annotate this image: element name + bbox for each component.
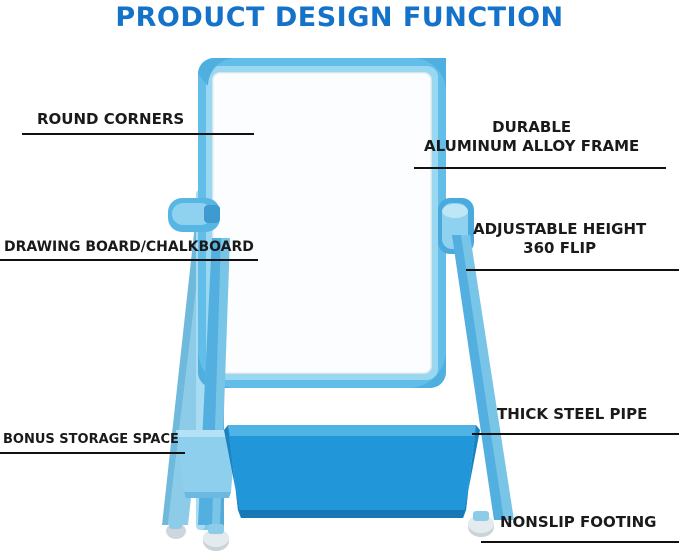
callout-adjustable-height-360-flip: ADJUSTABLE HEIGHT 360 FLIP xyxy=(473,220,646,258)
board-frame-group xyxy=(198,58,446,388)
product-diagram: PRODUCT DESIGN FUNCTION xyxy=(0,0,679,558)
callout-durable-aluminum-alloy-frame: DURABLE ALUMINUM ALLOY FRAME xyxy=(424,118,639,156)
leader-line-drawing-board xyxy=(0,259,258,261)
storage-tray xyxy=(224,425,480,518)
leader-line-bonus-storage xyxy=(0,452,185,454)
leader-line-durable-frame xyxy=(414,167,666,169)
pivot-knob-left xyxy=(168,198,220,232)
leader-line-nonslip-footing xyxy=(481,541,679,543)
callout-round-corners: ROUND CORNERS xyxy=(37,110,184,129)
callout-bonus-storage-space: BONUS STORAGE SPACE xyxy=(3,432,179,448)
callout-thick-steel-pipe: THICK STEEL PIPE xyxy=(497,405,647,424)
callout-durable-line-2: ALUMINUM ALLOY FRAME xyxy=(424,137,639,156)
callout-adjustable-line-1: ADJUSTABLE HEIGHT xyxy=(473,220,646,239)
callout-adjustable-line-2: 360 FLIP xyxy=(473,239,646,258)
leader-line-adjustable-height xyxy=(466,269,679,271)
callout-nonslip-footing: NONSLIP FOOTING xyxy=(500,513,656,532)
callout-durable-line-1: DURABLE xyxy=(424,118,639,137)
callout-drawing-board-chalkboard: DRAWING BOARD/CHALKBOARD xyxy=(4,239,254,257)
leader-line-round-corners xyxy=(22,133,254,135)
leader-line-thick-steel-pipe xyxy=(472,433,679,435)
product-illustration xyxy=(0,0,679,558)
